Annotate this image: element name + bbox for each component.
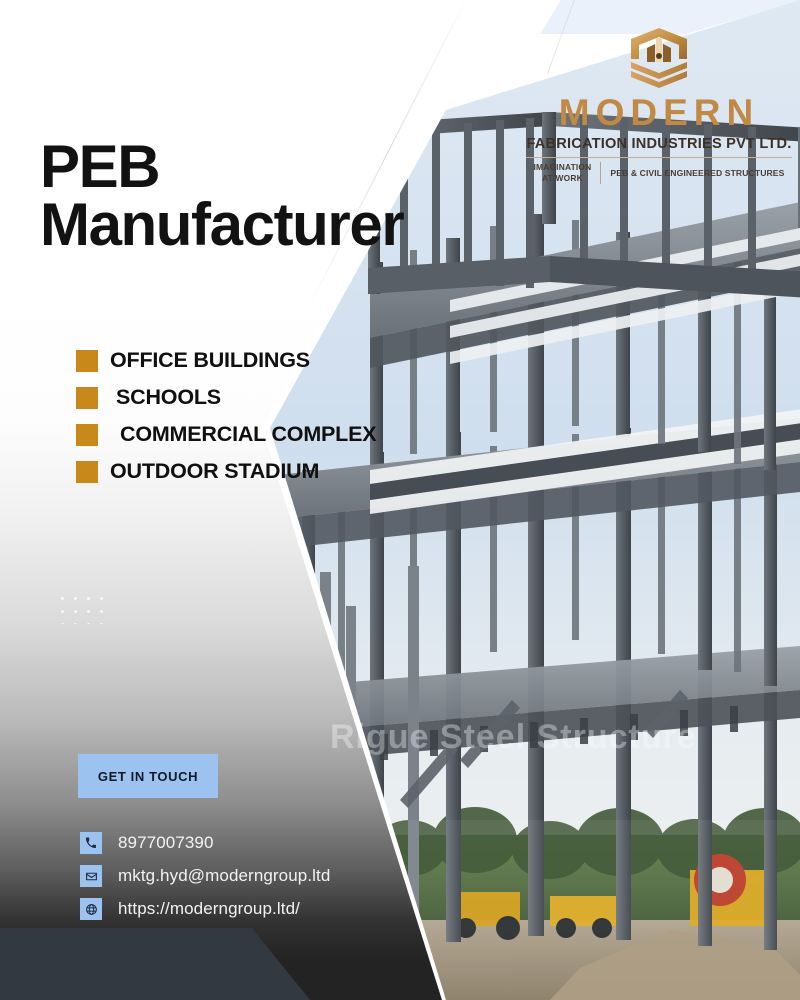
dot-grid-decoration bbox=[56, 592, 108, 624]
poster-canvas: Rigue Steel Structure bbox=[0, 0, 800, 1000]
logo-tagline-left-line2: AT WORK bbox=[534, 173, 592, 184]
modern-hexagon-building-logo-icon bbox=[520, 26, 798, 88]
page-title: PEB Manufacturer bbox=[40, 138, 510, 254]
email-icon bbox=[80, 865, 102, 887]
service-label: SCHOOLS bbox=[116, 385, 221, 410]
service-label: COMMERCIAL COMPLEX bbox=[120, 422, 376, 447]
contact-info: 8977007390 mktg.hyd@moderngroup.ltd http… bbox=[80, 832, 330, 931]
list-item: COMMERCIAL COMPLEX bbox=[76, 422, 446, 447]
logo-company-name: MODERN bbox=[520, 94, 798, 133]
service-label: OUTDOOR STADIUM bbox=[110, 459, 319, 484]
headline-line-2: Manufacturer bbox=[40, 196, 510, 254]
get-in-touch-button[interactable]: GET IN TOUCH bbox=[78, 754, 218, 798]
logo-company-subtitle: FABRICATION INDUSTRIES PVT LTD. bbox=[520, 136, 798, 152]
list-item: SCHOOLS bbox=[76, 385, 446, 410]
website-url: https://moderngroup.ltd/ bbox=[118, 899, 300, 919]
list-item: OUTDOOR STADIUM bbox=[76, 459, 446, 484]
logo-tagline-left: IMAGINATION AT WORK bbox=[534, 162, 592, 183]
phone-icon bbox=[80, 832, 102, 854]
bottom-left-wedge bbox=[0, 928, 310, 1000]
email-address: mktg.hyd@moderngroup.ltd bbox=[118, 866, 330, 886]
bullet-square-icon bbox=[76, 424, 98, 446]
logo-vertical-divider bbox=[600, 162, 601, 184]
list-item: OFFICE BUILDINGS bbox=[76, 348, 446, 373]
logo-tagline-right: PEB & CIVIL ENGINEERED STRUCTURES bbox=[610, 168, 784, 178]
bullet-square-icon bbox=[76, 461, 98, 483]
contact-phone-row[interactable]: 8977007390 bbox=[80, 832, 330, 854]
contact-email-row[interactable]: mktg.hyd@moderngroup.ltd bbox=[80, 865, 330, 887]
get-in-touch-label: GET IN TOUCH bbox=[98, 769, 198, 784]
bullet-square-icon bbox=[76, 350, 98, 372]
bullet-square-icon bbox=[76, 387, 98, 409]
globe-icon bbox=[80, 898, 102, 920]
services-list: OFFICE BUILDINGS SCHOOLS COMMERCIAL COMP… bbox=[76, 348, 446, 496]
company-logo[interactable]: MODERN FABRICATION INDUSTRIES PVT LTD. I… bbox=[520, 26, 798, 184]
logo-divider-rule bbox=[526, 157, 792, 158]
headline-line-1: PEB bbox=[40, 133, 159, 200]
service-label: OFFICE BUILDINGS bbox=[110, 348, 310, 373]
logo-tagline-row: IMAGINATION AT WORK PEB & CIVIL ENGINEER… bbox=[520, 162, 798, 184]
contact-website-row[interactable]: https://moderngroup.ltd/ bbox=[80, 898, 330, 920]
phone-number: 8977007390 bbox=[118, 833, 214, 853]
logo-tagline-left-line1: IMAGINATION bbox=[534, 162, 592, 173]
